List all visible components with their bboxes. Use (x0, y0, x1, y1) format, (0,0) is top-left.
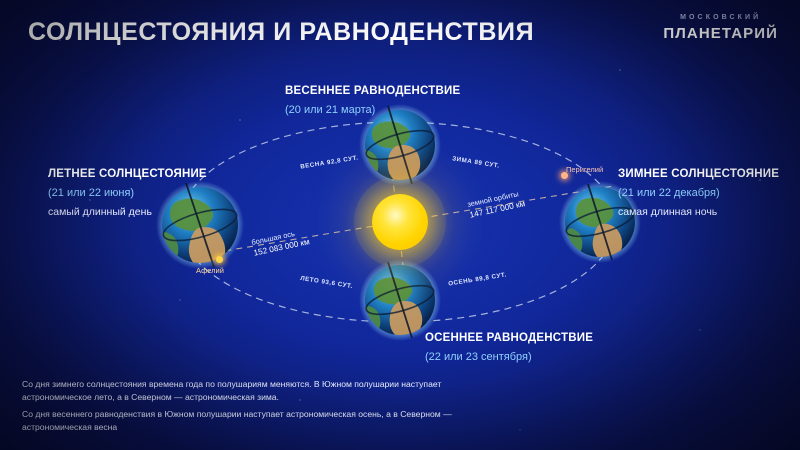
perihelion-label: Перигелий (566, 165, 603, 174)
aphelion-label: Афелий (196, 266, 224, 275)
label-spring-equinox: ВЕСЕННЕЕ РАВНОДЕНСТВИЕ (20 или 21 марта) (285, 85, 460, 116)
spring-equinox-title: ВЕСЕННЕЕ РАВНОДЕНСТВИЕ (285, 85, 460, 97)
page-title: СОЛНЦЕСТОЯНИЯ И РАВНОДЕНСТВИЯ (28, 18, 534, 47)
sun-icon (372, 194, 428, 250)
autumn-equinox-title: ОСЕННЕЕ РАВНОДЕНСТВИЕ (425, 332, 593, 344)
infographic-canvas: СОЛНЦЕСТОЯНИЯ И РАВНОДЕНСТВИЯ МОСКОВСКИЙ… (0, 0, 800, 450)
label-winter-solstice: ЗИМНЕЕ СОЛНЦЕСТОЯНИЕ (21 или 22 декабря)… (618, 168, 779, 218)
label-autumn-equinox: ОСЕННЕЕ РАВНОДЕНСТВИЕ (22 или 23 сентябр… (425, 332, 593, 363)
winter-solstice-date: (21 или 22 декабря) (618, 187, 779, 199)
label-summer-solstice: ЛЕТНЕЕ СОЛНЦЕСТОЯНИЕ (21 или 22 июня) са… (48, 168, 207, 218)
logo-top-line: МОСКОВСКИЙ (663, 14, 778, 21)
planetarium-logo: МОСКОВСКИЙ ПЛАНЕТАРИЙ (663, 14, 778, 41)
footer-paragraph-2: Со дня весеннего равноденствия в Южном п… (22, 408, 452, 435)
earth-globe-autumn (357, 259, 441, 341)
winter-solstice-note: самая длинная ночь (618, 206, 779, 218)
summer-solstice-title: ЛЕТНЕЕ СОЛНЦЕСТОЯНИЕ (48, 168, 207, 180)
autumn-equinox-date: (22 или 23 сентября) (425, 351, 593, 363)
summer-solstice-date: (21 или 22 июня) (48, 187, 207, 199)
footer-paragraph-1: Со дня зимнего солнцестояния времена год… (22, 378, 452, 405)
aphelion-marker-dot (216, 256, 223, 263)
logo-main-line: ПЛАНЕТАРИЙ (663, 26, 778, 41)
spring-equinox-date: (20 или 21 марта) (285, 104, 460, 116)
summer-solstice-note: самый длинный день (48, 206, 207, 218)
winter-solstice-title: ЗИМНЕЕ СОЛНЦЕСТОЯНИЕ (618, 168, 779, 180)
earth-globe-spring (355, 104, 441, 188)
